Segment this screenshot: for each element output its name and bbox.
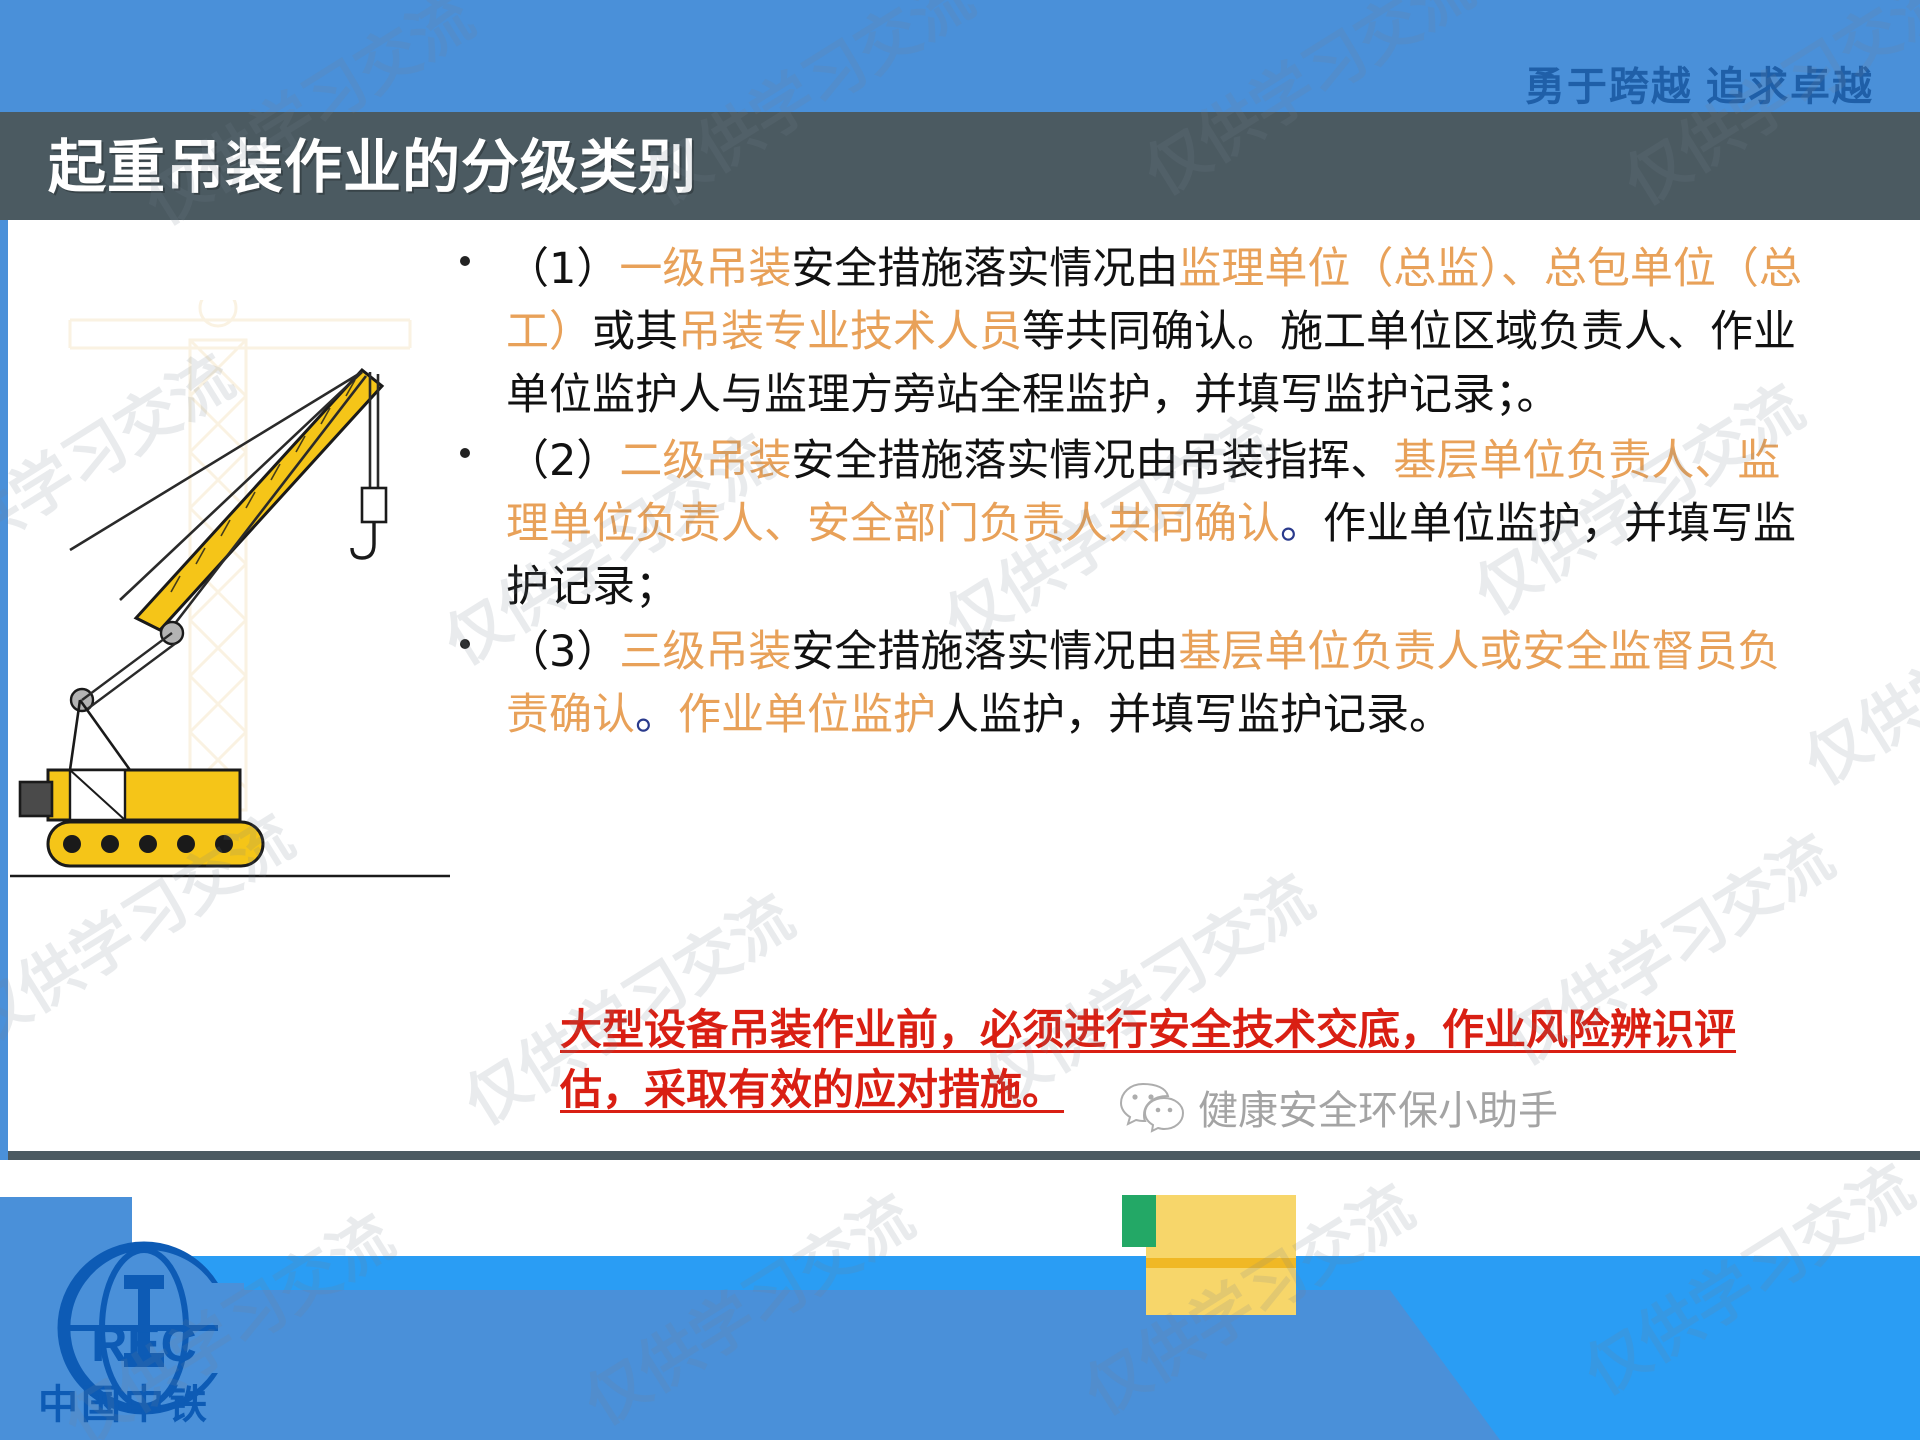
p3-run-6: 人监护，并填写监护记录。 [936,690,1452,740]
p1-run-4: 或其 [592,307,678,357]
p1-run-0: （1） [506,244,619,294]
deco-yellow-shape [1146,1195,1296,1315]
crec-company-name: 中国中铁 [38,1372,210,1430]
list-item: （3）三级吊装安全措施落实情况由基层单位负责人或安全监督员负责确认。作业单位监护… [452,621,1812,747]
bullet-icon [460,448,470,458]
p2-run-1: 二级吊装 [619,436,791,486]
body-text-block: （1）一级吊装安全措施落实情况由监理单位（总监）、总包单位（总工）或其吊装专业技… [452,238,1812,750]
p1-run-5: 吊装专业技术人员 [678,307,1022,357]
bullet-icon [460,256,470,266]
p3-run-1: 三级吊装 [619,627,791,677]
p2-run-0: （2） [506,436,619,486]
p2-run-4: 。 [1280,499,1323,549]
p1-run-1: 一级吊装 [619,244,791,294]
company-slogan: 勇于跨越 追求卓越 [1525,54,1874,112]
page-title: 起重吊装作业的分级类别 [48,120,697,204]
list-item: （2）二级吊装安全措施落实情况由吊装指挥、基层单位负责人、监理单位负责人、安全部… [452,430,1812,620]
wechat-account-name: 健康安全环保小助手 [1198,1078,1558,1136]
panel-left-accent [0,220,8,1160]
p3-run-4: 。 [635,690,678,740]
svg-text:REC: REC [91,1316,197,1372]
deco-yellow-line [1146,1258,1296,1268]
wechat-icon [1118,1080,1184,1134]
p3-run-2: 安全措施落实情况由 [791,627,1178,677]
p1-run-2: 安全措施落实情况由 [791,244,1178,294]
p3-run-0: （3） [506,627,619,677]
list-item: （1）一级吊装安全措施落实情况由监理单位（总监）、总包单位（总工）或其吊装专业技… [452,238,1812,428]
p3-run-5: 作业单位监护 [678,690,936,740]
bullet-icon [460,639,470,649]
wechat-watermark: 健康安全环保小助手 [1118,1078,1558,1136]
deco-green-shape [1122,1195,1156,1247]
slide-root: 勇于跨越 追求卓越 起重吊装作业的分级类别 [0,0,1920,1440]
p2-run-2: 安全措施落实情况由吊装指挥、 [791,436,1393,486]
